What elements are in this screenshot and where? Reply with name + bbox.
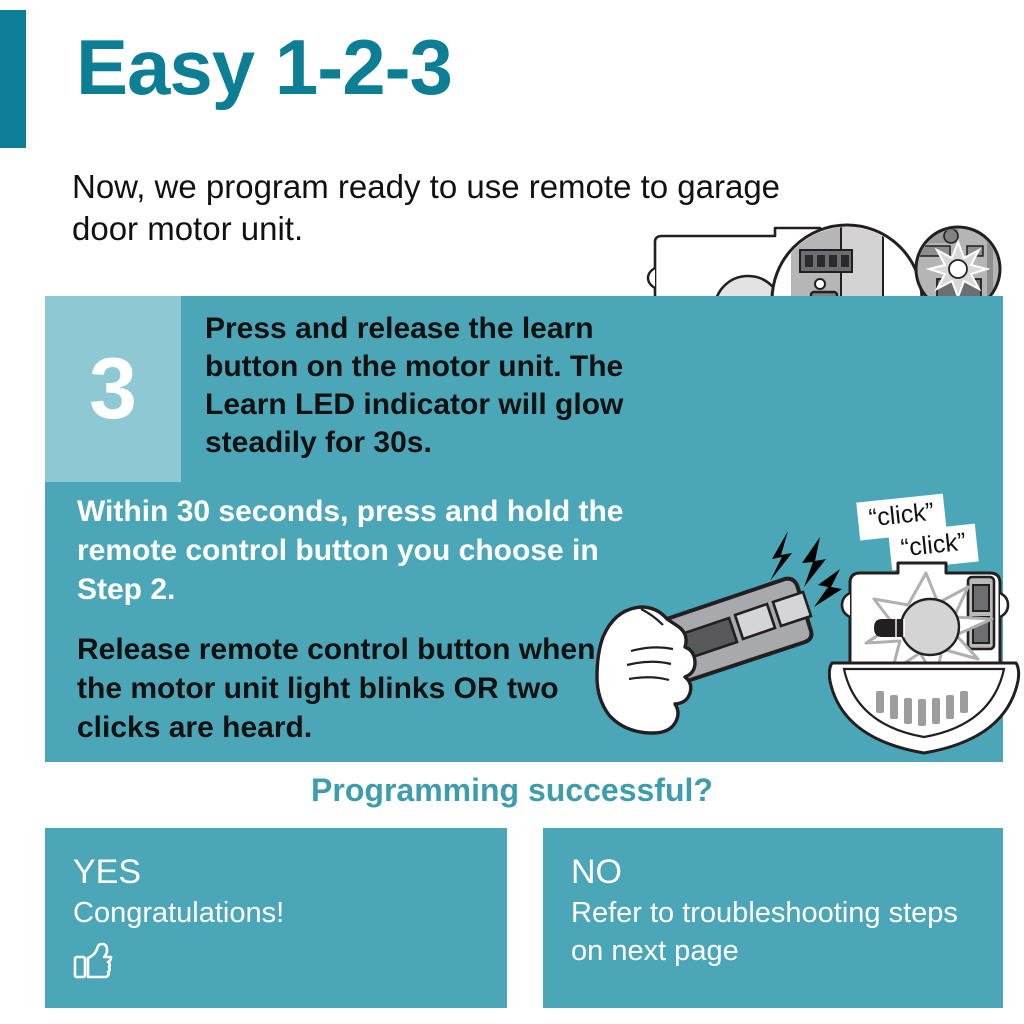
outcome-box-yes: YES Congratulations!: [45, 828, 507, 1008]
programming-question: Programming successful?: [0, 772, 1024, 809]
outcome-yes-body: Congratulations!: [73, 895, 479, 932]
paragraph-press-and-hold: Within 30 seconds, press and hold the re…: [77, 492, 667, 609]
intro-text: Now, we program ready to use remote to g…: [72, 166, 812, 250]
outcome-yes-heading: YES: [73, 854, 479, 891]
paragraph-release-button: Release remote control button when the m…: [77, 630, 637, 747]
instruction-page: Easy 1-2-3 Now, we program ready to use …: [0, 0, 1024, 1024]
outcome-no-body: Refer to troubleshooting steps on next p…: [571, 895, 975, 969]
outcome-no-heading: NO: [571, 854, 975, 891]
outcome-box-no: NO Refer to troubleshooting steps on nex…: [543, 828, 1003, 1008]
thumbs-up-icon: [73, 941, 113, 981]
header-accent-bar: [0, 10, 26, 148]
step-number-badge: 3: [45, 296, 181, 482]
page-title: Easy 1-2-3: [76, 28, 452, 106]
step-instruction: Press and release the learn button on th…: [205, 310, 625, 462]
step-number: 3: [45, 296, 181, 482]
